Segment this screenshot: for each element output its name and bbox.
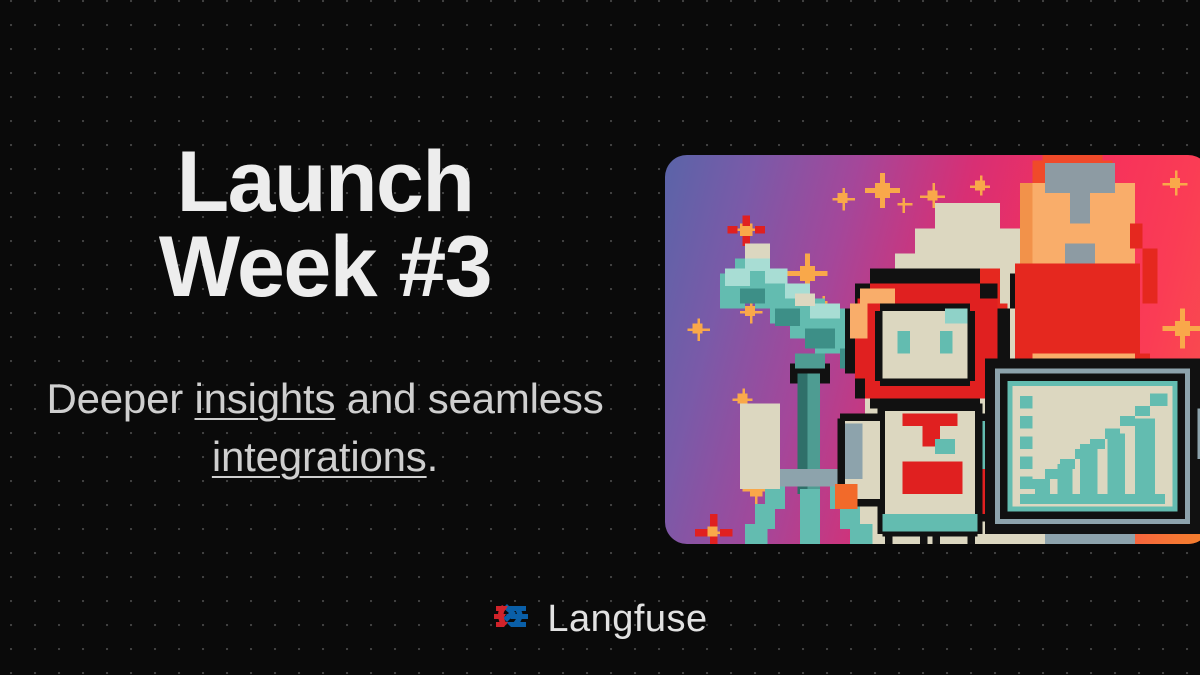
page-title: Launch Week #3 bbox=[139, 140, 511, 310]
pixel-art-illustration bbox=[665, 155, 1200, 544]
star-icon bbox=[688, 318, 711, 341]
monitor-stand-neck bbox=[1045, 534, 1135, 544]
subtitle-emphasis-integrations: integrations bbox=[212, 433, 427, 480]
art-card-clip bbox=[665, 155, 1200, 544]
monitor-chart bbox=[985, 359, 1200, 544]
telescope-backdrop-smoke bbox=[740, 404, 780, 489]
astronaut-belt bbox=[883, 514, 978, 532]
subtitle-part-3: . bbox=[427, 433, 438, 480]
telescope-lens-cap bbox=[745, 243, 770, 258]
astronaut-visor-shine bbox=[945, 308, 968, 323]
star-icon bbox=[1163, 171, 1188, 196]
rocket-stripe bbox=[1070, 188, 1090, 223]
page-subtitle: Deeper insights and seamless integration… bbox=[45, 370, 605, 486]
astronaut-glove-left bbox=[835, 484, 858, 509]
brand-footer: Langfuse bbox=[0, 600, 1200, 638]
star-icon bbox=[1163, 308, 1200, 348]
subtitle-emphasis-insights: insights bbox=[195, 375, 336, 422]
star-icon bbox=[833, 188, 856, 211]
star-icon bbox=[865, 173, 900, 208]
langfuse-logo-icon bbox=[492, 602, 532, 636]
telescope-ring bbox=[795, 293, 815, 306]
star-icon bbox=[970, 176, 990, 196]
star-icon bbox=[898, 198, 913, 213]
astronaut-arm-left-shade bbox=[845, 424, 863, 479]
astronaut-chest-light bbox=[935, 439, 955, 454]
subtitle-part-2: and seamless bbox=[335, 375, 603, 422]
subtitle-part-1: Deeper bbox=[46, 375, 194, 422]
pixel-art-scene bbox=[665, 155, 1200, 544]
brand-name: Langfuse bbox=[547, 600, 707, 638]
text-column: Launch Week #3 Deeper insights and seaml… bbox=[0, 140, 650, 520]
telescope-pivot-collar bbox=[795, 354, 825, 369]
launch-week-announcement-card: Launch Week #3 Deeper insights and seaml… bbox=[0, 0, 1200, 675]
